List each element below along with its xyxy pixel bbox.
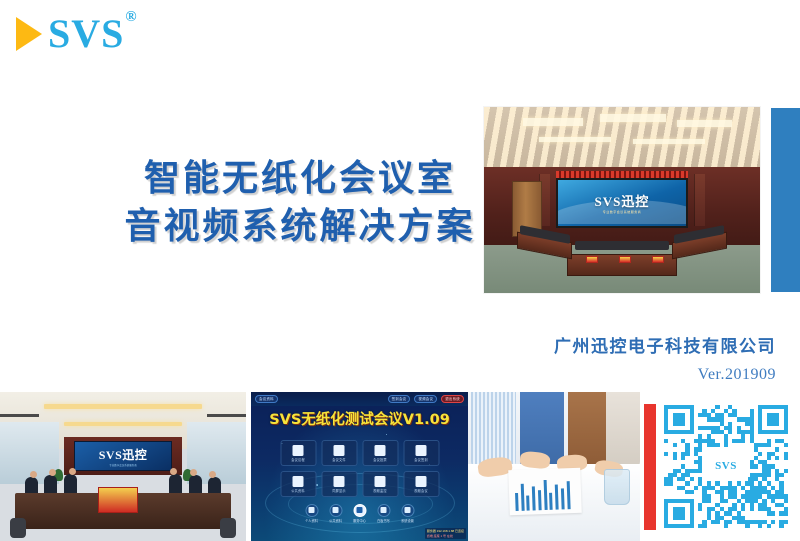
nav-item-public[interactable]: 公共资料 — [329, 504, 342, 524]
qr-module — [681, 422, 685, 426]
qr-module — [758, 452, 762, 456]
strip-conference-room-photo: SVS迅控 专业数字会议系统服务商 — [0, 392, 246, 541]
attendee-head — [30, 471, 37, 478]
qr-module — [775, 422, 779, 426]
version-label: Ver.201909 — [698, 366, 776, 384]
qr-module — [702, 524, 706, 528]
chairs-center — [575, 241, 669, 250]
tile-label: 会议投票 — [373, 457, 387, 462]
chart-bar — [521, 484, 525, 511]
brand-logo: SVS® — [16, 14, 137, 54]
chart-bar — [515, 493, 519, 511]
video-icon — [416, 476, 427, 487]
qr-center-text: SVS — [715, 460, 737, 472]
led-display: SVS迅控 专业数字会议系统服务商 — [556, 178, 688, 228]
screen-logo: SVS迅控 — [99, 446, 148, 463]
share-icon — [334, 476, 345, 487]
play-triangle-icon — [16, 17, 42, 51]
signin-icon — [416, 445, 427, 456]
qr-module — [758, 524, 762, 528]
qr-module — [741, 439, 745, 443]
qr-module — [685, 452, 689, 456]
settings-icon — [353, 504, 366, 517]
qr-module — [673, 456, 677, 460]
nav-label: 个人资料 — [305, 518, 318, 523]
page-title: 智能无纸化会议室 音视频系统解决方案 — [110, 155, 490, 250]
screen-subtitle: 专业数字会议系统服务商 — [603, 210, 642, 214]
qr-module — [685, 481, 689, 485]
qr-module — [767, 524, 771, 528]
document-display — [98, 487, 138, 513]
qr-module — [698, 447, 702, 451]
nav-label: 系统设置 — [401, 518, 414, 523]
ceiling-light — [523, 118, 584, 125]
ceiling-light — [539, 137, 611, 143]
attendee-head — [69, 468, 76, 475]
chart-bar — [538, 491, 542, 511]
qr-module — [715, 443, 719, 447]
qr-module — [784, 469, 788, 473]
qr-module — [750, 507, 754, 511]
chair — [220, 518, 236, 538]
bottom-image-strip: SVS迅控 专业数字会议系统服务商 会议资料 签到会议 — [0, 392, 800, 541]
tile-label: 公共资料 — [291, 488, 305, 493]
tile-label: 会议议程 — [291, 457, 305, 462]
accent-bar — [771, 108, 800, 292]
topbar-button-video[interactable]: 视频会议 — [414, 395, 437, 403]
qr-module — [784, 430, 788, 434]
qr-center-logo: SVS — [704, 451, 748, 481]
ceiling-light — [677, 120, 732, 127]
qr-module — [724, 499, 728, 503]
ceiling-light — [44, 404, 201, 409]
qr-module — [715, 520, 719, 524]
led-display: SVS迅控 专业数字会议系统服务商 — [74, 441, 172, 471]
water-glass — [604, 469, 630, 505]
qr-module — [745, 524, 749, 528]
camera-icon — [375, 476, 386, 487]
chair — [10, 518, 26, 538]
app-status-text: 服务器 192.168.1.88 已连接 终端 座席 1 号 在线 — [425, 528, 466, 539]
led-text-strip — [556, 171, 688, 178]
app-bottom-nav: 个人资料 公共资料 服务中心 白板书写 系统设置 — [305, 504, 414, 524]
files-icon — [329, 504, 342, 517]
strip-app-screenshot: 会议资料 签到会议 视频会议 退出系统 SVS无纸化测试会议V1.09 会议议程… — [251, 392, 468, 541]
qr-module — [690, 477, 694, 481]
tile-label: 视频监控 — [373, 488, 387, 493]
title-line-2: 音视频系统解决方案 — [110, 203, 490, 251]
tile-label: 同屏显示 — [332, 488, 346, 493]
qr-module — [771, 520, 775, 524]
chart-bar — [555, 485, 559, 510]
qr-module — [694, 486, 698, 490]
qr-module — [741, 507, 745, 511]
status-line-2: 终端 座席 1 号 在线 — [427, 534, 464, 539]
qr-module — [784, 443, 788, 447]
qr-module — [784, 520, 788, 524]
qr-module — [698, 507, 702, 511]
logo-text: SVS — [48, 11, 124, 56]
wall-pane — [694, 174, 705, 226]
app-tile-screen-share[interactable]: 同屏显示 — [321, 471, 357, 497]
app-tile-video-conf[interactable]: 视频会议 — [403, 471, 439, 497]
app-tile-vote[interactable]: 会议投票 — [362, 440, 398, 466]
document-display — [619, 256, 631, 263]
folder-icon — [293, 476, 304, 487]
monitor-icon — [401, 504, 414, 517]
app-tile-grid: 会议议程 会议文件 会议投票 会议签到 公共资料 同屏显示 — [280, 440, 439, 497]
ceiling-trim — [0, 414, 39, 417]
qr-module — [784, 499, 788, 503]
app-tile-agenda[interactable]: 会议议程 — [280, 440, 316, 466]
ceiling-trim — [207, 414, 246, 417]
nav-item-whiteboard[interactable]: 白板书写 — [377, 504, 390, 524]
screen-subtitle: 专业数字会议系统服务商 — [109, 463, 137, 467]
qr-module — [715, 405, 719, 409]
topbar-button-left[interactable]: 会议资料 — [255, 395, 278, 403]
qr-module — [771, 511, 775, 515]
nav-item-settings[interactable]: 系统设置 — [401, 504, 414, 524]
strip-business-meeting-photo — [468, 392, 640, 541]
qr-module — [664, 452, 668, 456]
topbar-button-exit[interactable]: 退出系统 — [441, 395, 464, 403]
ballot-icon — [375, 445, 386, 456]
nav-item-personal[interactable]: 个人资料 — [305, 504, 318, 524]
app-topbar: 会议资料 签到会议 视频会议 退出系统 — [251, 392, 468, 406]
document-icon — [334, 445, 345, 456]
tile-label: 会议签到 — [414, 457, 428, 462]
qr-module — [673, 443, 677, 447]
chart-bar — [550, 493, 554, 510]
qr-module — [728, 430, 732, 434]
logo-wordmark: SVS® — [48, 14, 137, 54]
hero-conference-room-image: SVS迅控 专业数字会议系统服务商 — [483, 106, 761, 294]
app-tile-signin[interactable]: 会议签到 — [403, 440, 439, 466]
title-line-1: 智能无纸化会议室 — [110, 155, 490, 203]
strip-qr-panel: SVS — [640, 392, 800, 541]
user-icon — [305, 504, 318, 517]
qr-module — [698, 469, 702, 473]
document-display — [652, 256, 664, 263]
chart-bar — [567, 482, 571, 510]
nav-label: 公共资料 — [329, 518, 342, 523]
qr-module — [690, 524, 694, 528]
ceiling-light — [600, 114, 666, 121]
registered-trademark-icon: ® — [125, 9, 137, 25]
chart-bar — [544, 481, 548, 511]
qr-module — [668, 481, 672, 485]
app-title: SVS无纸化测试会议V1.09 — [251, 408, 468, 429]
qr-module — [707, 499, 711, 503]
qr-module — [767, 456, 771, 460]
app-tile-camera[interactable]: 视频监控 — [362, 471, 398, 497]
qr-module — [728, 520, 732, 524]
company-name: 广州迅控电子科技有限公司 — [554, 332, 776, 357]
red-accent-bar — [644, 404, 656, 530]
qr-module — [754, 464, 758, 468]
qr-module — [784, 456, 788, 460]
chart-bar — [532, 487, 536, 510]
tile-label: 视频会议 — [414, 488, 428, 493]
app-tile-public-files[interactable]: 公共资料 — [280, 471, 316, 497]
qr-module — [681, 456, 685, 460]
chart-paper — [509, 468, 583, 515]
person-shirt — [606, 392, 640, 469]
clipboard-icon — [293, 445, 304, 456]
qr-module — [681, 516, 685, 520]
chart-bar — [561, 489, 565, 510]
qr-module — [664, 439, 668, 443]
chart-bar — [527, 496, 531, 511]
nav-item-service[interactable]: 服务中心 — [353, 504, 366, 524]
qr-module — [779, 524, 783, 528]
topbar-button-signin[interactable]: 签到会议 — [388, 395, 411, 403]
qr-module — [690, 490, 694, 494]
qr-code[interactable]: SVS — [664, 405, 788, 529]
nav-label: 白板书写 — [377, 518, 390, 523]
qr-module — [724, 443, 728, 447]
screen-logo: SVS迅控 — [595, 191, 650, 210]
qr-module — [775, 456, 779, 460]
qr-module — [779, 473, 783, 477]
nav-label: 服务中心 — [353, 518, 366, 523]
qr-module — [775, 447, 779, 451]
ceiling-light — [64, 422, 182, 426]
status-line-1: 服务器 192.168.1.88 已连接 — [427, 529, 464, 534]
pen-icon — [377, 504, 390, 517]
qr-module — [690, 430, 694, 434]
document-display — [586, 256, 598, 263]
qr-module — [767, 443, 771, 447]
tile-label: 会议文件 — [332, 457, 346, 462]
app-tile-files[interactable]: 会议文件 — [321, 440, 357, 466]
qr-module — [767, 473, 771, 477]
topbar-buttons-right: 签到会议 视频会议 退出系统 — [388, 395, 464, 403]
ceiling-light — [633, 139, 705, 145]
qr-module — [724, 524, 728, 528]
qr-module — [784, 511, 788, 515]
